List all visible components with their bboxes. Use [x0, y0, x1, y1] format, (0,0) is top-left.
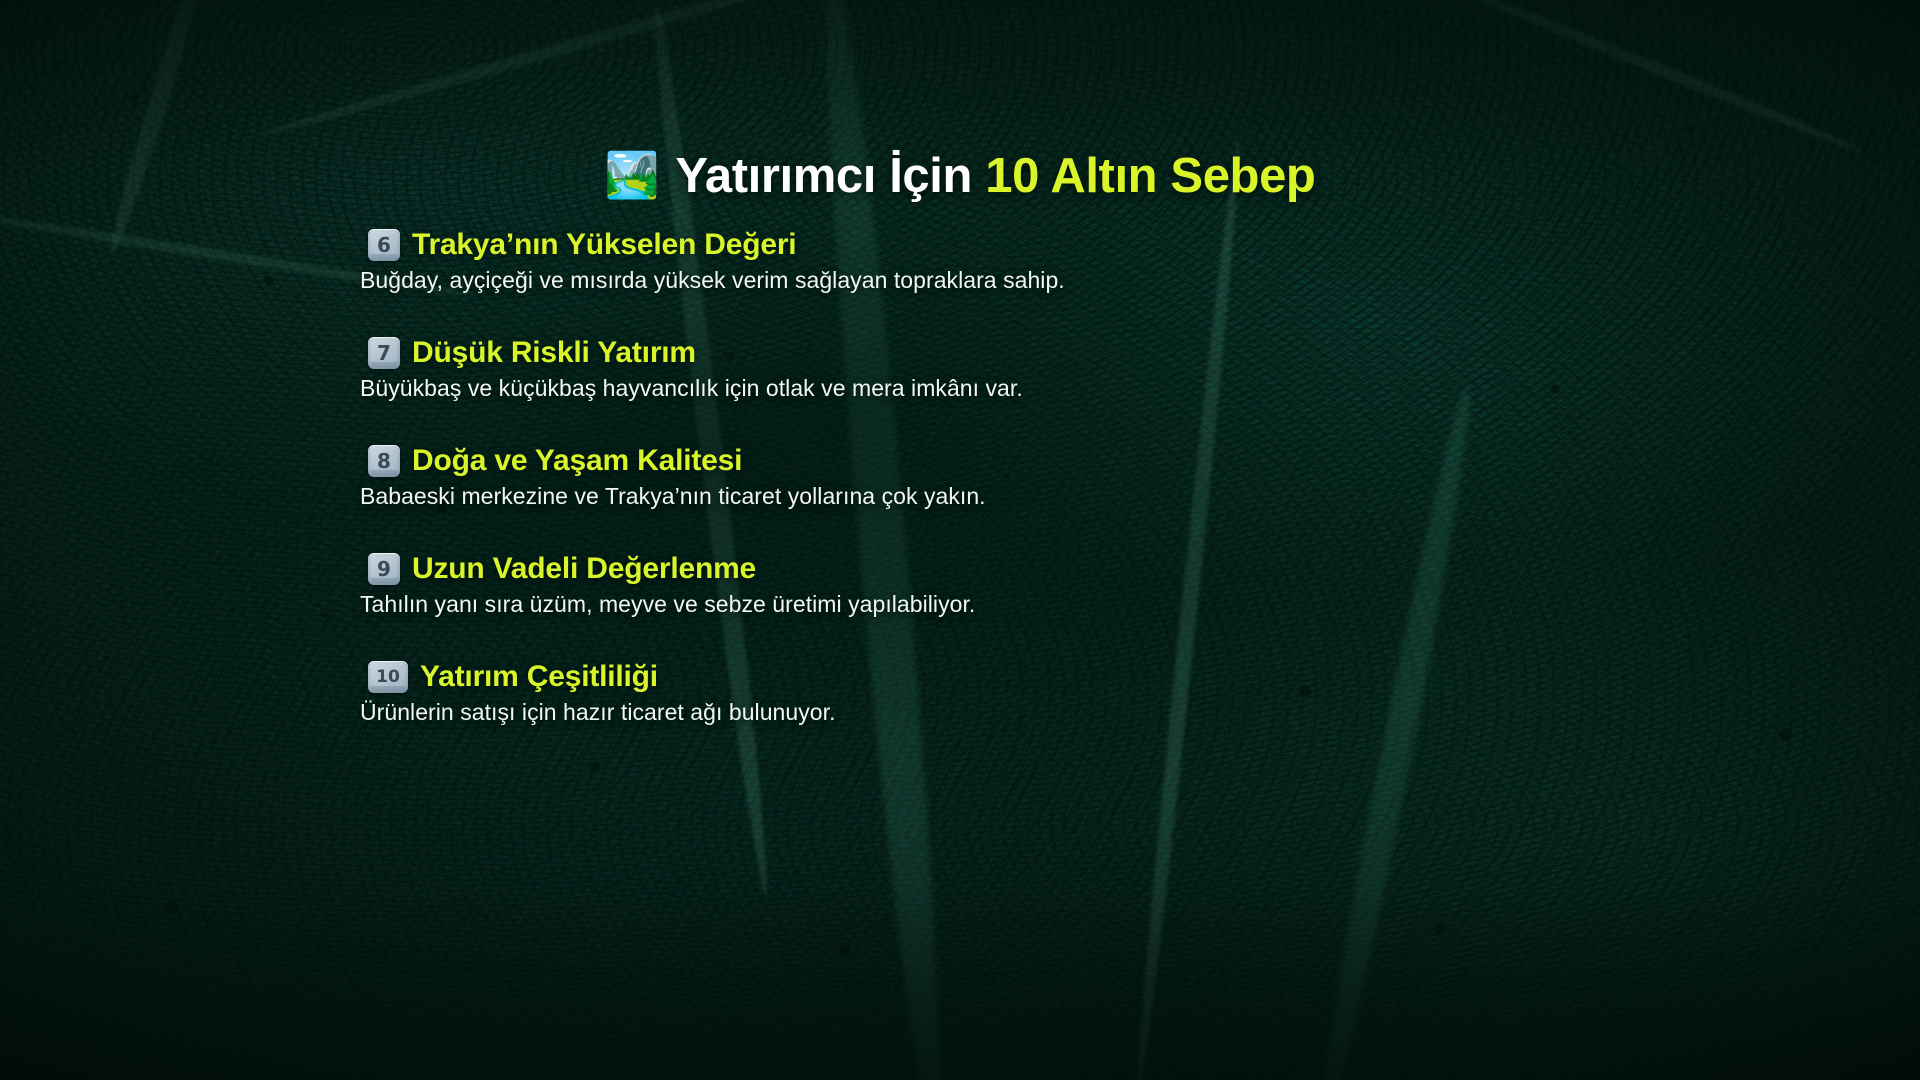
list-item: 7 Düşük Riskli Yatırım Büyükbaş ve küçük… [360, 336, 1540, 402]
reasons-list: 6 Trakya’nın Yükselen Değeri Buğday, ayç… [360, 228, 1540, 726]
list-item-header: 10 Yatırım Çeşitliliği [368, 660, 1540, 694]
list-item-title: Uzun Vadeli Değerlenme [412, 552, 756, 586]
page-title: 🏞️ Yatırımcı İçin 10 Altın Sebep [0, 148, 1920, 204]
keycap-number-icon: 8 [368, 445, 400, 477]
list-item: 10 Yatırım Çeşitliliği Ürünlerin satışı … [360, 660, 1540, 726]
slide-canvas: 🏞️ Yatırımcı İçin 10 Altın Sebep 6 Traky… [0, 0, 1920, 1080]
keycap-number-icon: 6 [368, 229, 400, 261]
keycap-number-icon: 10 [368, 661, 408, 693]
list-item-header: 6 Trakya’nın Yükselen Değeri [368, 228, 1540, 262]
keycap-number-icon: 9 [368, 553, 400, 585]
list-item-title: Yatırım Çeşitliliği [420, 660, 658, 694]
list-item-description: Babaeski merkezine ve Trakya’nın ticaret… [360, 483, 1540, 510]
national-park-icon: 🏞️ [605, 154, 660, 198]
keycap-number-icon: 7 [368, 337, 400, 369]
list-item-description: Tahılın yanı sıra üzüm, meyve ve sebze ü… [360, 591, 1540, 618]
list-item-title: Trakya’nın Yükselen Değeri [412, 228, 796, 262]
list-item-header: 8 Doğa ve Yaşam Kalitesi [368, 444, 1540, 478]
list-item-description: Ürünlerin satışı için hazır ticaret ağı … [360, 699, 1540, 726]
list-item: 8 Doğa ve Yaşam Kalitesi Babaeski merkez… [360, 444, 1540, 510]
list-item-description: Büyükbaş ve küçükbaş hayvancılık için ot… [360, 375, 1540, 402]
list-item-title: Düşük Riskli Yatırım [412, 336, 696, 370]
page-title-accent: 10 Altın Sebep [985, 149, 1315, 203]
list-item-title: Doğa ve Yaşam Kalitesi [412, 444, 742, 478]
page-title-text: Yatırımcı İçin 10 Altın Sebep [675, 148, 1315, 204]
list-item: 6 Trakya’nın Yükselen Değeri Buğday, ayç… [360, 228, 1540, 294]
list-item-header: 7 Düşük Riskli Yatırım [368, 336, 1540, 370]
list-item: 9 Uzun Vadeli Değerlenme Tahılın yanı sı… [360, 552, 1540, 618]
list-item-description: Buğday, ayçiçeği ve mısırda yüksek verim… [360, 267, 1540, 294]
page-title-plain: Yatırımcı İçin [675, 149, 972, 203]
list-item-header: 9 Uzun Vadeli Değerlenme [368, 552, 1540, 586]
slide-content: 🏞️ Yatırımcı İçin 10 Altın Sebep 6 Traky… [0, 0, 1920, 1080]
